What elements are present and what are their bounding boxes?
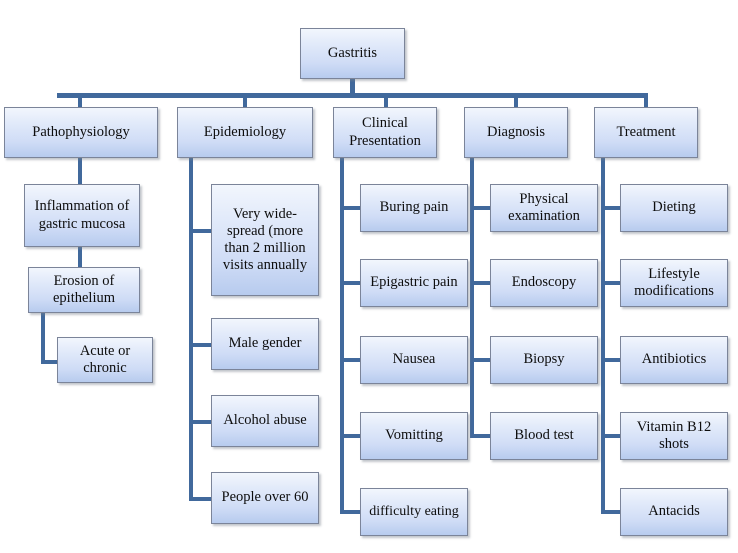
connector-diag-stub-1	[470, 206, 492, 210]
node-endoscopy[interactable]: Endoscopy	[490, 259, 598, 307]
connector-diag-spine	[470, 157, 474, 438]
node-people-over-60[interactable]: People over 60	[211, 472, 319, 524]
node-pathophysiology[interactable]: Pathophysiology	[4, 107, 158, 158]
node-vitamin-b12-shots[interactable]: Vitamin B12 shots	[620, 412, 728, 460]
node-acute-or-chronic[interactable]: Acute or chronic	[57, 337, 153, 383]
connector-epi-stub-4	[189, 497, 213, 501]
node-buring-pain[interactable]: Buring pain	[360, 184, 468, 232]
node-nausea[interactable]: Nausea	[360, 336, 468, 384]
connector-clin-stub-5	[340, 510, 362, 514]
node-epigastric-pain[interactable]: Epigastric pain	[360, 259, 468, 307]
connector-diag-stub-4	[470, 434, 492, 438]
connector-clin-stub-2	[340, 281, 362, 285]
connector-epi-stub-1	[189, 229, 213, 233]
connector-treat-stub-1	[601, 206, 622, 210]
connector-trunk	[57, 93, 647, 98]
node-diagnosis[interactable]: Diagnosis	[464, 107, 568, 158]
connector-clin-stub-1	[340, 206, 362, 210]
connector-epi-spine	[189, 157, 193, 499]
connector-epi-stub-2	[189, 343, 213, 347]
connector-patho-1	[78, 157, 82, 185]
connector-patho-2	[78, 246, 82, 268]
node-epidemiology[interactable]: Epidemiology	[177, 107, 313, 158]
connector-treat-stub-2	[601, 281, 622, 285]
node-alcohol-abuse[interactable]: Alcohol abuse	[211, 395, 319, 447]
connector-patho-3-elbow-v	[41, 312, 45, 364]
node-treatment[interactable]: Treatment	[594, 107, 698, 158]
node-vomitting[interactable]: Vomitting	[360, 412, 468, 460]
node-biopsy[interactable]: Biopsy	[490, 336, 598, 384]
connector-treat-stub-3	[601, 358, 622, 362]
node-antacids[interactable]: Antacids	[620, 488, 728, 536]
connector-clin-stub-3	[340, 358, 362, 362]
connector-treat-stub-4	[601, 434, 622, 438]
connector-epi-stub-3	[189, 420, 213, 424]
connector-diag-stub-3	[470, 358, 492, 362]
node-root-gastritis[interactable]: Gastritis	[300, 28, 405, 79]
node-antibiotics[interactable]: Antibiotics	[620, 336, 728, 384]
node-physical-examination[interactable]: Physical examination	[490, 184, 598, 232]
connector-clin-spine	[340, 157, 344, 513]
connector-treat-stub-5	[601, 510, 622, 514]
connector-diag-stub-2	[470, 281, 492, 285]
connector-clin-stub-4	[340, 434, 362, 438]
gastritis-mind-map: Gastritis Pathophysiology Epidemiology C…	[0, 0, 738, 553]
node-inflammation-of-gastric-mucosa[interactable]: Inflammation of gastric mucosa	[24, 184, 140, 247]
node-clinical-presentation[interactable]: Clinical Presentation	[333, 107, 437, 158]
node-difficulty-eating[interactable]: difficulty eating	[360, 488, 468, 536]
node-very-widespread[interactable]: Very wide- spread (more than 2 million v…	[211, 184, 319, 296]
node-erosion-of-epithelium[interactable]: Erosion of epithelium	[28, 267, 140, 313]
node-male-gender[interactable]: Male gender	[211, 318, 319, 370]
node-dieting[interactable]: Dieting	[620, 184, 728, 232]
connector-treat-spine	[601, 157, 605, 513]
node-lifestyle-modifications[interactable]: Lifestyle modifications	[620, 259, 728, 307]
node-blood-test[interactable]: Blood test	[490, 412, 598, 460]
